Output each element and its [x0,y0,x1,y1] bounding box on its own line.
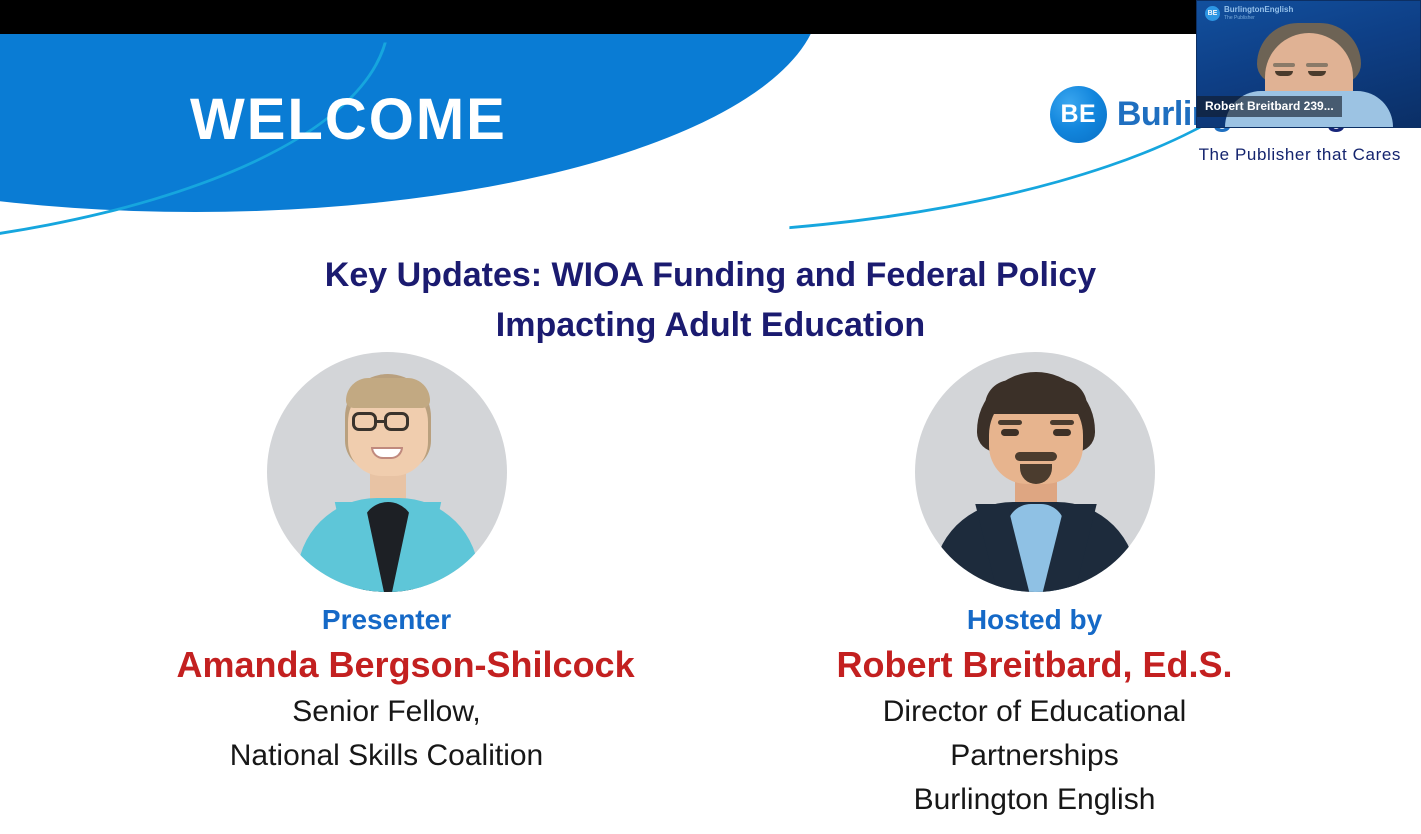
slide-headline: Key Updates: WIOA Funding and Federal Po… [0,250,1421,350]
host-brow-right [1050,420,1074,425]
host-eye-right [1053,429,1071,436]
host-title-line-1: Director of Educational Partnerships [825,690,1245,778]
host-eye-left [1001,429,1019,436]
presenter-glasses-bridge [377,420,384,423]
host-fringe [985,380,1087,414]
logo-tagline: The Publisher that Cares [1199,145,1401,165]
presenter-title-line-1: Senior Fellow, [177,690,597,734]
people-row: Presenter Amanda Bergson-Shilcock Senior… [0,352,1421,822]
presenter-name: Amanda Bergson-Shilcock [177,644,597,686]
video-brow-right [1306,63,1328,67]
presenter-glasses-right [384,412,409,431]
host-title-line-2: Burlington English [825,778,1245,822]
headline-line-2: Impacting Adult Education [0,300,1421,350]
person-presenter: Presenter Amanda Bergson-Shilcock Senior… [177,352,597,822]
video-logo-sub: The Publisher [1224,15,1293,21]
be-badge-icon: BE [1050,86,1107,143]
person-host: Hosted by Robert Breitbard, Ed.S. Direct… [825,352,1245,822]
video-eye-right [1308,71,1326,76]
video-logo-textgroup: BurlingtonEnglish The Publisher [1224,6,1293,21]
presenter-glasses-left [352,412,377,431]
presenter-photo [267,352,507,592]
presenter-role-label: Presenter [177,604,597,636]
video-participant-tile[interactable]: BE BurlingtonEnglish The Publisher Rober… [1196,0,1421,128]
host-role-label: Hosted by [825,604,1245,636]
host-photo [915,352,1155,592]
slide-stage: WELCOME BE BurlingtonEnglish The Publish… [0,0,1421,834]
video-background-logo: BE BurlingtonEnglish The Publisher [1205,6,1293,21]
host-name: Robert Breitbard, Ed.S. [825,644,1245,686]
headline-line-1: Key Updates: WIOA Funding and Federal Po… [0,250,1421,300]
video-eye-left [1275,71,1293,76]
presenter-title-line-2: National Skills Coalition [177,734,597,778]
welcome-title: WELCOME [190,86,507,153]
host-moustache [1015,452,1057,461]
video-be-badge-icon: BE [1205,6,1220,21]
video-logo-word: BurlingtonEnglish [1224,6,1293,15]
video-brow-left [1273,63,1295,67]
video-participant-name-label: Robert Breitbard 239... [1197,96,1342,117]
host-brow-left [998,420,1022,425]
presenter-fringe [346,378,430,408]
presenter-title: Senior Fellow, National Skills Coalition [177,690,597,778]
host-title: Director of Educational Partnerships Bur… [825,690,1245,822]
